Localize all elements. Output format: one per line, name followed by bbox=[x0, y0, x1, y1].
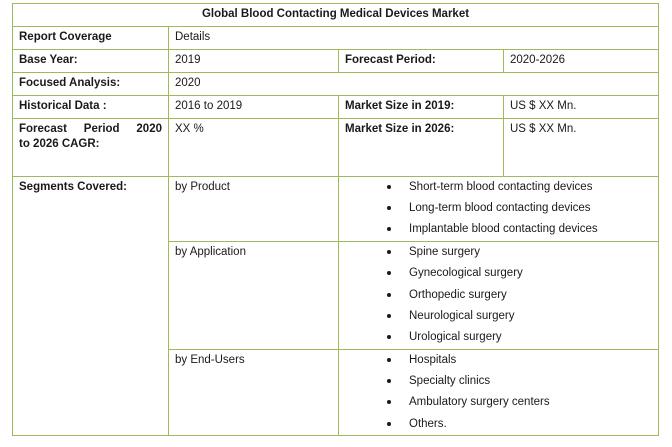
table-row: Focused Analysis: 2020 bbox=[13, 72, 659, 95]
historical-data-label: Historical Data : bbox=[13, 95, 169, 118]
bullet-list-application: Spine surgery Gynecological surgery Orth… bbox=[345, 245, 652, 345]
segments-row-product: Segments Covered: by Product Short-term … bbox=[13, 176, 659, 241]
details-label: Details bbox=[169, 26, 659, 49]
cagr-value: XX % bbox=[169, 118, 339, 176]
forecast-period-label: Forecast Period: bbox=[339, 49, 504, 72]
list-item: Implantable blood contacting devices bbox=[387, 222, 652, 236]
list-item: Urological surgery bbox=[387, 330, 652, 344]
market-size-2019-label: Market Size in 2019: bbox=[339, 95, 504, 118]
bullet-list-product: Short-term blood contacting devices Long… bbox=[345, 180, 652, 237]
base-year-value: 2019 bbox=[169, 49, 339, 72]
table-header-row: Report Coverage Details bbox=[13, 26, 659, 49]
segments-covered-label: Segments Covered: bbox=[13, 176, 169, 436]
list-item: Specialty clinics bbox=[387, 374, 652, 388]
list-item: Long-term blood contacting devices bbox=[387, 201, 652, 215]
list-item: Ambulatory surgery centers bbox=[387, 395, 652, 409]
focused-analysis-value: 2020 bbox=[169, 72, 659, 95]
list-item: Spine surgery bbox=[387, 245, 652, 259]
table-title-row: Global Blood Contacting Medical Devices … bbox=[13, 4, 659, 27]
report-title: Global Blood Contacting Medical Devices … bbox=[13, 4, 659, 27]
bullet-list-endusers: Hospitals Specialty clinics Ambulatory s… bbox=[345, 353, 652, 432]
table-row: Base Year: 2019 Forecast Period: 2020-20… bbox=[13, 49, 659, 72]
cagr-label: Forecast Period 2020 to 2026 CAGR: bbox=[13, 118, 169, 176]
list-item: Orthopedic surgery bbox=[387, 288, 652, 302]
list-item: Hospitals bbox=[387, 353, 652, 367]
list-item: Gynecological surgery bbox=[387, 266, 652, 280]
base-year-label: Base Year: bbox=[13, 49, 169, 72]
segment-group-name-endusers: by End-Users bbox=[169, 349, 339, 436]
table-row: Historical Data : 2016 to 2019 Market Si… bbox=[13, 95, 659, 118]
segment-items-endusers: Hospitals Specialty clinics Ambulatory s… bbox=[339, 349, 659, 436]
segment-group-name-product: by Product bbox=[169, 176, 339, 241]
table-row: Forecast Period 2020 to 2026 CAGR: XX % … bbox=[13, 118, 659, 176]
market-size-2026-value: US $ XX Mn. bbox=[504, 118, 659, 176]
cagr-label-line2: to 2026 CAGR: bbox=[19, 137, 162, 152]
market-size-2019-value: US $ XX Mn. bbox=[504, 95, 659, 118]
segment-items-application: Spine surgery Gynecological surgery Orth… bbox=[339, 241, 659, 349]
list-item: Others. bbox=[387, 417, 652, 431]
list-item: Neurological surgery bbox=[387, 309, 652, 323]
focused-analysis-label: Focused Analysis: bbox=[13, 72, 169, 95]
market-size-2026-label: Market Size in 2026: bbox=[339, 118, 504, 176]
market-report-table: Global Blood Contacting Medical Devices … bbox=[12, 3, 659, 436]
cagr-label-line1: Forecast Period 2020 bbox=[19, 123, 162, 135]
segment-group-name-application: by Application bbox=[169, 241, 339, 349]
historical-data-value: 2016 to 2019 bbox=[169, 95, 339, 118]
forecast-period-value: 2020-2026 bbox=[504, 49, 659, 72]
report-coverage-label: Report Coverage bbox=[13, 26, 169, 49]
list-item: Short-term blood contacting devices bbox=[387, 180, 652, 194]
segment-items-product: Short-term blood contacting devices Long… bbox=[339, 176, 659, 241]
